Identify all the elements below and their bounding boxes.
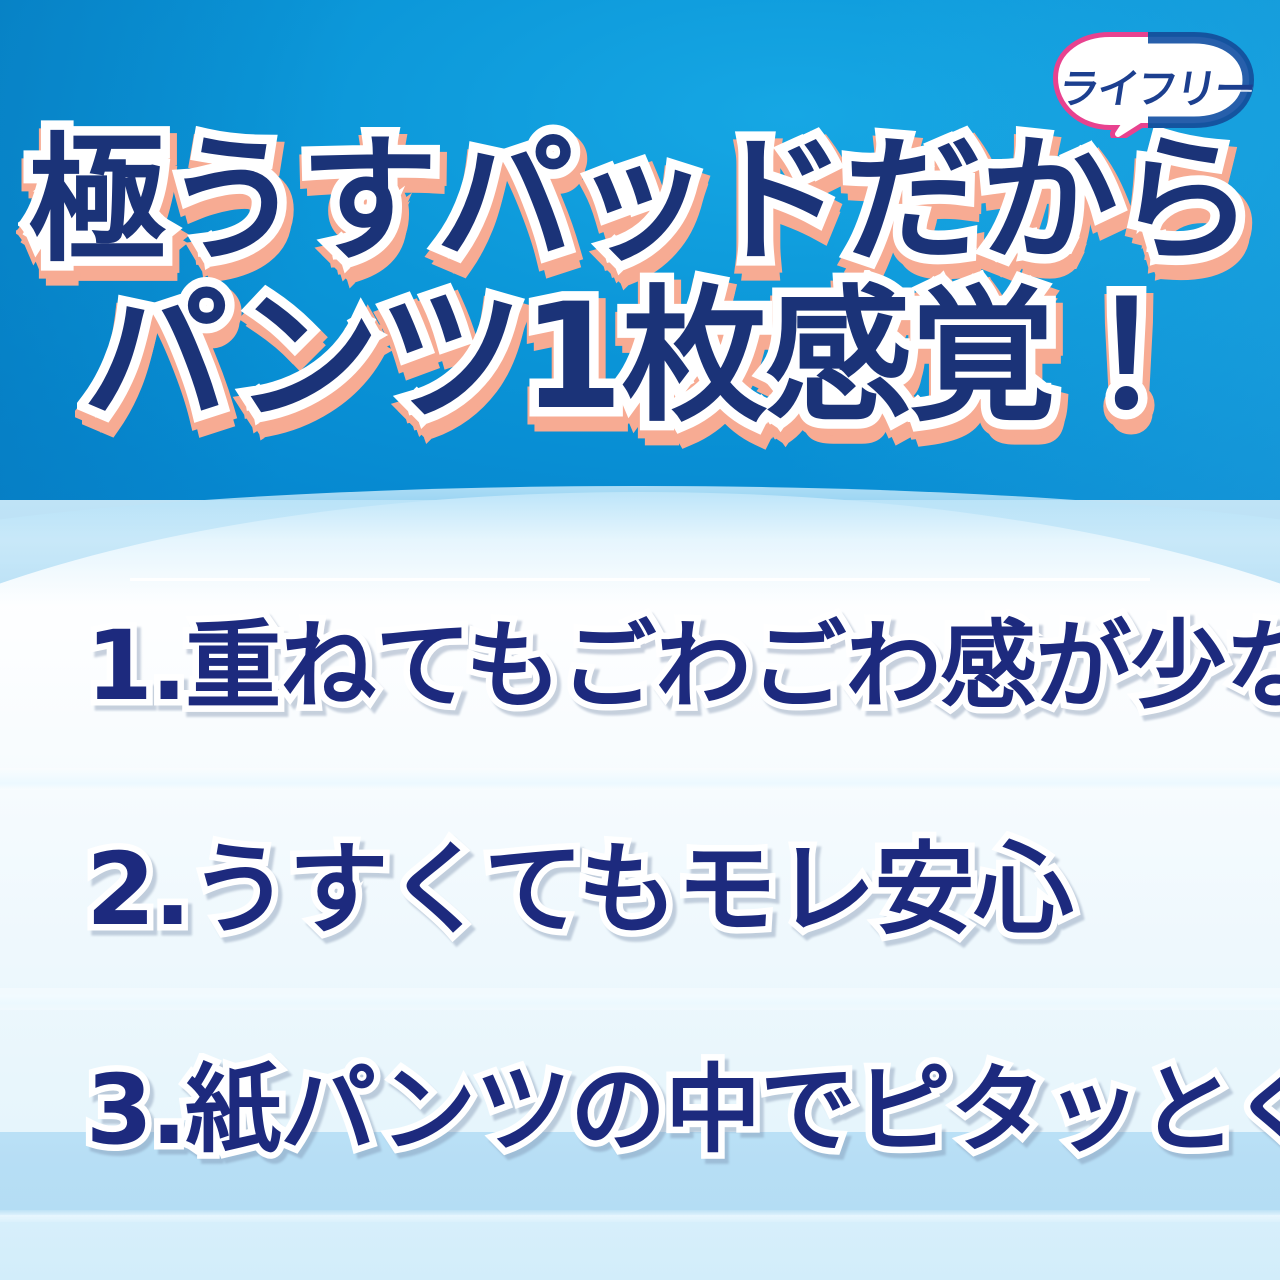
feature-row-1: 1.重ねてもごわごわ感が少ない [0,618,1280,714]
band-divider-1 [0,768,1280,790]
dome-highlight-rim [0,486,1280,606]
dome-seam-line [130,578,1150,581]
headline-line-1: 極うすパッドだから [0,132,1280,270]
feature-text-3: 紙パンツの中でピタッとくっつく [185,1054,1280,1166]
band-divider-3 [0,1210,1280,1222]
feature-text-1: 重ねてもごわごわ感が少ない [185,610,1280,722]
feature-row-2: 2.うすくてもモレ安心 [0,840,1280,940]
headline-block: 極うすパッドだから パンツ1枚感覚！ [0,132,1280,430]
band-divider-2 [0,988,1280,1010]
headline-line-2: パンツ1枚感覚！ [0,284,1280,430]
promo-banner: 極うすパッドだから パンツ1枚感覚！ 1.重ねてもごわごわ感が少ない 2.うすく… [0,0,1280,1280]
lifree-wordmark: ライフリー [1043,31,1270,139]
feature-number-3: 3. [86,1054,185,1166]
feature-row-3: 3.紙パンツの中でピタッとくっつく [0,1062,1280,1158]
lifree-logo: ライフリー [1048,30,1258,138]
footer-band [0,1218,1280,1280]
feature-text-2: うすくてもモレ安心 [190,831,1073,948]
feature-number-1: 1. [86,610,185,722]
feature-number-2: 2. [86,831,190,948]
